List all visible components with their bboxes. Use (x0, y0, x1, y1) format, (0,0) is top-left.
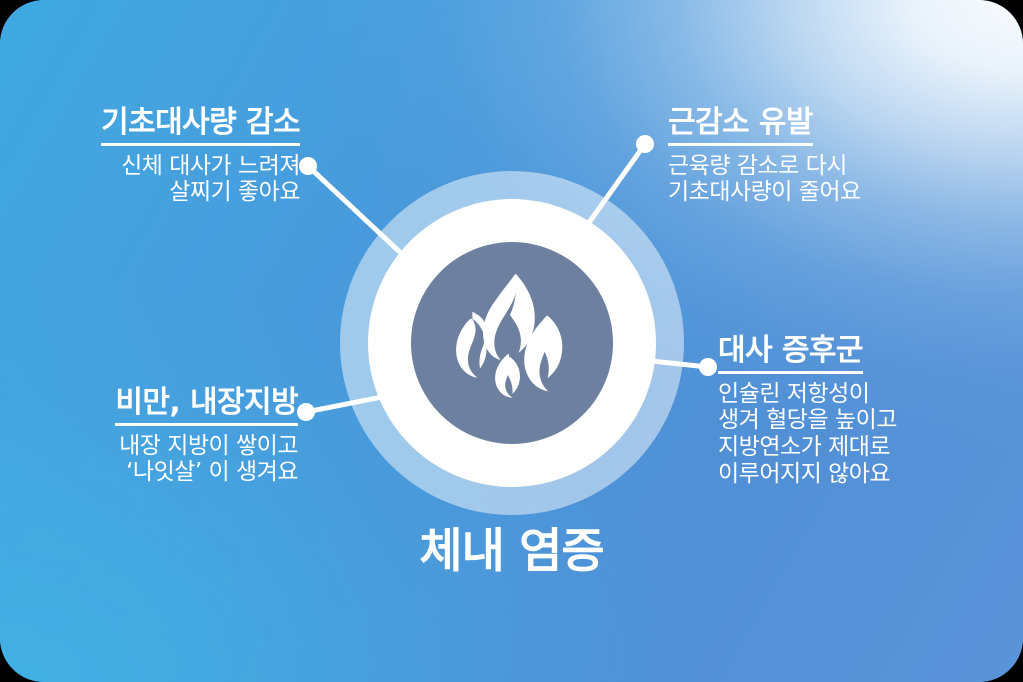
label-sarcopenia-line-2: 기초대사량이 줄어요 (668, 179, 998, 206)
label-obesity-line-2: ‘나잇살’ 이 생겨요 (0, 459, 298, 486)
connector-dot-sarcopenia (636, 135, 654, 153)
label-sarcopenia: 근감소 유발 근육량 감소로 다시 기초대사량이 줄어요 (668, 106, 998, 206)
infographic-canvas: 기초대사량 감소 신체 대사가 느려져 살찌기 좋아요 근감소 유발 근육량 감… (0, 0, 1023, 682)
label-metabolism-line-1: 신체 대사가 느려져 (0, 153, 300, 180)
label-syndrome-line-2: 생겨 혈당을 높이고 (718, 407, 1018, 434)
connector-dot-syndrome (699, 358, 717, 376)
label-metabolism: 기초대사량 감소 신체 대사가 느려져 살찌기 좋아요 (0, 106, 300, 206)
label-obesity-body: 내장 지방이 쌓이고 ‘나잇살’ 이 생겨요 (0, 433, 298, 486)
label-sarcopenia-body: 근육량 감소로 다시 기초대사량이 줄어요 (668, 153, 998, 206)
label-obesity: 비만, 내장지방 내장 지방이 쌓이고 ‘나잇살’ 이 생겨요 (0, 386, 298, 486)
label-obesity-heading: 비만, 내장지방 (115, 386, 298, 426)
label-metabolism-body: 신체 대사가 느려져 살찌기 좋아요 (0, 153, 300, 206)
label-sarcopenia-heading: 근감소 유발 (668, 106, 813, 146)
label-syndrome-line-1: 인슐린 저항성이 (718, 381, 1018, 408)
label-obesity-line-1: 내장 지방이 쌓이고 (0, 433, 298, 460)
label-sarcopenia-line-1: 근육량 감소로 다시 (668, 153, 998, 180)
flame-icon (437, 268, 587, 418)
label-syndrome: 대사 증후군 인슐린 저항성이 생겨 혈당을 높이고 지방연소가 제대로 이루어… (718, 334, 1018, 487)
connector-dot-obesity (297, 403, 315, 421)
center-title: 체내 염증 (0, 512, 1023, 581)
label-metabolism-line-2: 살찌기 좋아요 (0, 179, 300, 206)
connector-dot-metabolism (299, 157, 317, 175)
label-syndrome-heading: 대사 증후군 (718, 334, 863, 374)
label-metabolism-heading: 기초대사량 감소 (101, 106, 300, 146)
label-syndrome-body: 인슐린 저항성이 생겨 혈당을 높이고 지방연소가 제대로 이루어지지 않아요 (718, 381, 1018, 488)
label-syndrome-line-4: 이루어지지 않아요 (718, 461, 1018, 488)
label-syndrome-line-3: 지방연소가 제대로 (718, 434, 1018, 461)
